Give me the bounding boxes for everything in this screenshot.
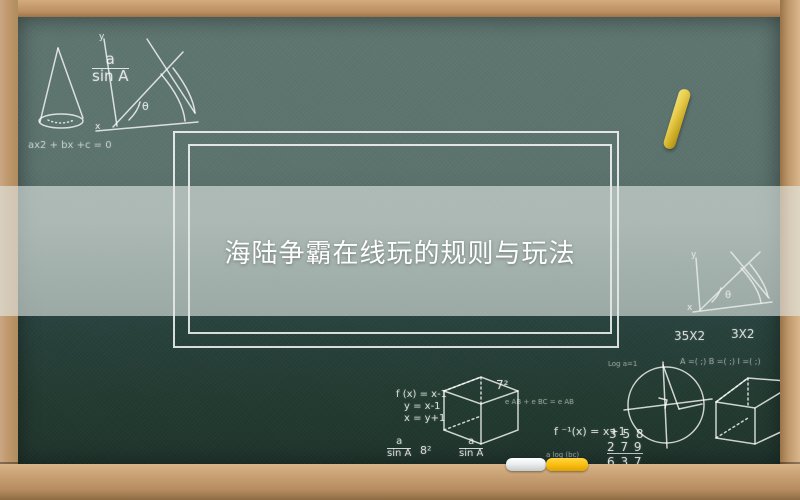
chalk-number-row-1: 3 5 8: [609, 427, 645, 441]
chalk-formula-y-eq: y = x-1: [404, 401, 441, 412]
chalk-formula-inverse-fx: f ⁻¹(x) = x+1: [554, 425, 626, 438]
chalk-formula-fx: f (x) = x-1: [396, 389, 447, 400]
chalk-axis-label-y-1: y: [99, 32, 104, 42]
frame-bottom-ledge: [0, 464, 800, 500]
chalk-formula-a-over-sinA-1: a sin A: [92, 52, 129, 85]
chalk-formula-quadratic: ax2 + bx +c = 0: [28, 140, 112, 151]
chalk-formula-7-squared: 7²: [496, 378, 508, 392]
frame-top-rail: [0, 0, 800, 17]
chalk-stick-yellow-diagonal: [662, 88, 692, 151]
fraction-denominator: sin A: [92, 68, 129, 85]
chalk-formula-8-squared: 8²: [420, 444, 431, 457]
chalk-stick-yellow: [546, 458, 588, 471]
chalk-axis-label-x-1: x: [95, 122, 100, 132]
chalk-formula-matrices: A =( ;) B =( ;) I =( ;): [680, 357, 761, 366]
banner-image: a sin A ax2 + bx +c = 0 y x θ y x θ f (x…: [0, 0, 800, 500]
fraction-denominator: sin A: [459, 448, 483, 460]
fraction-numerator: a: [387, 437, 411, 448]
chalk-formula-a-over-sinA-3: a sin A: [459, 437, 483, 459]
chalk-formula-a-over-sinA-2: a sin A: [387, 437, 411, 459]
chalk-label-35x2: 35X2: [674, 329, 705, 343]
fraction-denominator: sin A: [387, 448, 411, 460]
chalk-label-3x2: 3X2: [731, 327, 755, 341]
page-title: 海陆争霸在线玩的规则与玩法: [0, 186, 800, 316]
chalk-stick-white: [506, 458, 546, 471]
chalk-formula-x-eq: x = y+1: [404, 413, 445, 424]
chalk-formula-log-a: Log a=1: [608, 360, 637, 368]
chalk-formula-vectors: e AB + e BC = e AB: [505, 398, 574, 406]
fraction-numerator: a: [92, 52, 129, 68]
chalk-angle-label-theta-1: θ: [142, 100, 149, 113]
fraction-numerator: a: [459, 437, 483, 448]
chalk-number-row-2: 2 7 9: [607, 440, 643, 454]
chalk-number-row-3: 6 3 7: [607, 453, 643, 464]
